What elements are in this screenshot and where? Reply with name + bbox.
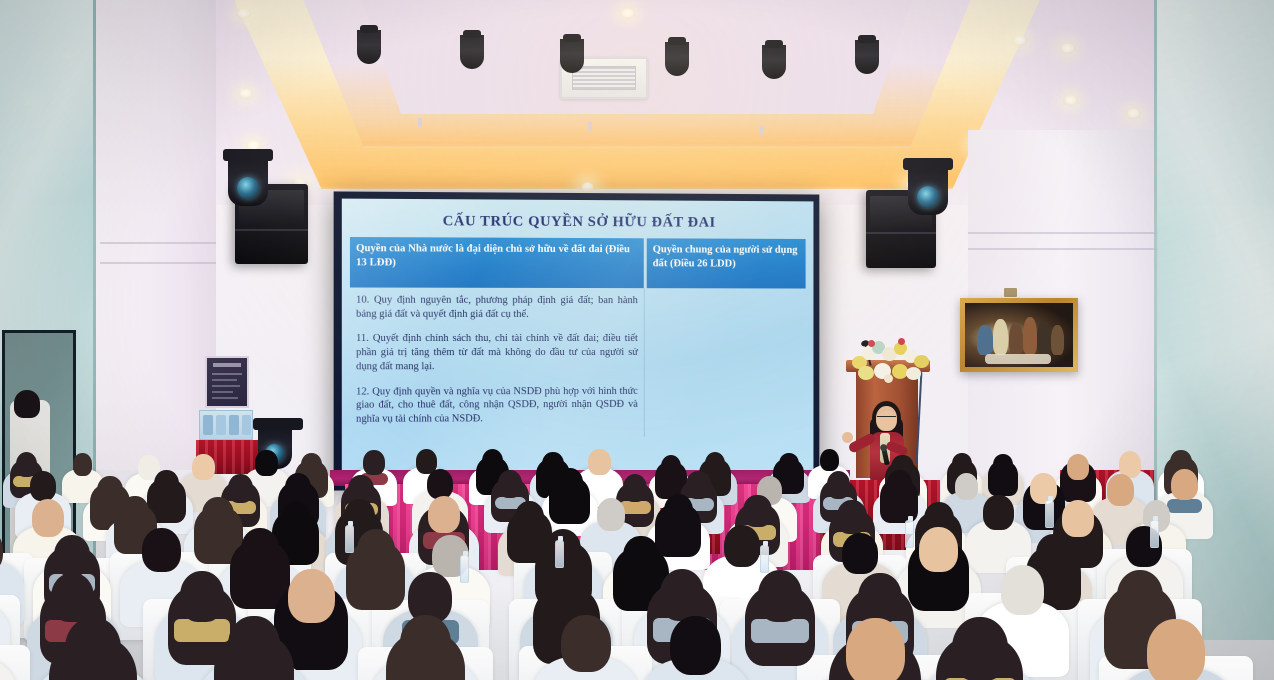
audience-member-head — [285, 473, 311, 503]
audience-member-head — [1062, 500, 1094, 537]
conference-hall-screenshot: CẤU TRÚC QUYỀN SỞ HỮU ĐẤT ĐAI Quyền của … — [0, 0, 1274, 680]
wall-label-tag — [1004, 288, 1017, 297]
water-bottle — [555, 540, 564, 568]
presenter-left-hand — [842, 432, 853, 443]
presentation-slide: CẤU TRÚC QUYỀN SỞ HỮU ĐẤT ĐAI Quyền của … — [342, 199, 814, 486]
audience-member-head — [288, 569, 336, 624]
audience-member-head — [837, 500, 866, 534]
audience-member-head — [705, 452, 726, 476]
audience-member-head — [955, 473, 978, 500]
moving-head-light-right — [908, 165, 948, 215]
audience-member-head — [428, 496, 461, 533]
audience-member-head — [952, 617, 1008, 680]
audience-member-head — [858, 573, 902, 623]
audience-member-head — [65, 617, 122, 680]
slide-reflection-left: CẤU TRÚC QUYỀN SỞ HỮU ĐẤT ĐAI Quyền của … — [72, 200, 120, 470]
sprinkler-head-icon — [760, 126, 764, 135]
ceiling-spotlight-6 — [855, 40, 879, 74]
audience-member-head — [846, 618, 905, 680]
audience-member-head — [588, 449, 610, 475]
audience-member-head — [1001, 565, 1044, 615]
audience-member-accessory — [1167, 499, 1202, 513]
audience-member-head — [1067, 454, 1089, 480]
slide-column-header-right: Quyền chung của người sử dụng đất (Điều … — [647, 238, 806, 288]
ceiling-downlight — [238, 88, 253, 99]
wall-notice-board — [205, 356, 249, 408]
ceiling-downlight — [1063, 95, 1078, 106]
audience-member-head — [515, 501, 544, 534]
audience-member-head — [142, 528, 181, 572]
water-bottle — [1150, 520, 1159, 548]
audience-member-head — [1107, 474, 1134, 505]
audience-member-head — [228, 474, 253, 503]
audience-member-head — [54, 535, 90, 576]
audience-member-accessory — [174, 619, 231, 642]
audience-member-head — [686, 471, 710, 499]
slide-item-12: 12. Quy định quyền và nghĩa vụ của NSDĐ … — [356, 385, 638, 427]
ceiling-spotlight-4 — [665, 42, 689, 76]
audience-member-head — [1030, 473, 1057, 504]
water-bottle — [1045, 500, 1054, 528]
audience-member-head — [73, 453, 92, 475]
ceiling-downlight — [620, 8, 635, 19]
wall-reveal-line — [968, 248, 1158, 250]
water-bottle — [905, 520, 914, 548]
ceiling-downlight — [580, 182, 595, 193]
audience-member-head — [255, 450, 277, 476]
slide-item-11: 11. Quyết định chính sách thu, chi tài c… — [356, 332, 638, 374]
audience-member-head — [724, 525, 761, 567]
audience-member-head — [1171, 469, 1198, 500]
slide-column-header-left: Quyền của Nhà nước là đại diện chủ sở hữ… — [350, 237, 644, 288]
audience-member-head — [427, 469, 453, 499]
audience-member-head — [561, 615, 611, 672]
slide-cell-left: 10. Quy định nguyên tắc, phương pháp địn… — [350, 287, 644, 437]
slide-cell-right — [644, 288, 806, 436]
audience-member-accessory — [751, 619, 809, 643]
audience-member-head — [743, 495, 771, 527]
painting-canvas — [965, 303, 1073, 367]
audience-member-head — [154, 470, 179, 498]
audience-member-head — [1117, 570, 1164, 624]
ceiling-downlight — [236, 8, 251, 19]
wall-reveal-line — [968, 232, 1158, 234]
wall-info-panel — [199, 410, 253, 440]
audience-member-head — [363, 450, 385, 475]
moving-head-light-left — [228, 156, 268, 206]
sprinkler-head-icon — [418, 118, 422, 127]
audience-member-head — [202, 497, 234, 533]
slide-item-10: 10. Quy định nguyên tắc, phương pháp địn… — [356, 294, 638, 322]
water-bottle — [345, 525, 354, 553]
slide-table-body: 10. Quy định nguyên tắc, phương pháp địn… — [350, 287, 806, 437]
audience-member-head — [887, 470, 912, 498]
audience-member-head — [983, 495, 1013, 530]
audience-member-head — [660, 569, 705, 621]
audience-member-head — [241, 528, 279, 572]
audience-member-head — [180, 571, 224, 622]
audience-member-head — [919, 527, 958, 572]
framed-painting — [960, 298, 1078, 372]
audience-member-head — [661, 455, 682, 479]
audience-member-head — [192, 454, 215, 480]
audience-member-head — [1147, 619, 1205, 680]
audience-member-head — [32, 499, 65, 536]
ceiling-spotlight-1 — [357, 30, 381, 64]
audience-member-head — [557, 468, 583, 498]
slide-reflection-right: CẤU TRÚC QUYỀN SỞ HỮU ĐẤT ĐAI Quyền của … — [1133, 196, 1195, 486]
audience-member-head — [1036, 534, 1071, 575]
audience-member-head — [820, 449, 839, 471]
audience-member-head — [993, 454, 1013, 477]
audience-member-head — [597, 498, 626, 531]
slide-title: CẤU TRÚC QUYỀN SỞ HỮU ĐẤT ĐAI — [350, 205, 806, 239]
audience-member-head — [827, 471, 851, 498]
audience-member-head — [498, 470, 522, 498]
water-bottle — [460, 555, 469, 583]
presenter-glasses-icon — [877, 416, 896, 421]
ceiling-spotlight-3 — [560, 39, 584, 73]
sprinkler-head-icon — [588, 122, 592, 131]
ceiling-downlight — [1060, 43, 1075, 54]
audience-member-head — [623, 474, 648, 502]
slide-table-header-row: Quyền của Nhà nước là đại diện chủ sở hữ… — [350, 237, 806, 289]
audience-member-head — [623, 536, 658, 577]
ceiling-downlight — [1126, 108, 1141, 119]
audience-member-head — [30, 471, 56, 501]
water-bottle — [760, 545, 769, 573]
audience-member-head — [758, 570, 803, 622]
ceiling-spotlight-5 — [762, 45, 786, 79]
person-standing-left-head — [14, 390, 40, 418]
projection-screen: CẤU TRÚC QUYỀN SỞ HỮU ĐẤT ĐAI Quyền của … — [334, 191, 820, 490]
audience-member-head — [482, 449, 504, 474]
audience-member-head — [228, 616, 280, 675]
audience-member-head — [670, 616, 721, 675]
audience-member-head — [97, 476, 122, 505]
audience-member-head — [121, 496, 149, 528]
flower-arrangement — [848, 338, 936, 384]
audience-member-head — [400, 615, 451, 673]
audience-member-head — [281, 501, 311, 536]
audience-member-head — [51, 573, 94, 622]
ceiling-spotlight-2 — [460, 35, 484, 69]
audience-member-head — [779, 453, 799, 476]
audience-member-head — [357, 529, 395, 573]
room-background: CẤU TRÚC QUYỀN SỞ HỮU ĐẤT ĐAI Quyền của … — [0, 0, 1274, 680]
audience-member-head — [664, 494, 694, 528]
audience-member-head — [842, 533, 877, 574]
ceiling-downlight — [1012, 35, 1027, 46]
